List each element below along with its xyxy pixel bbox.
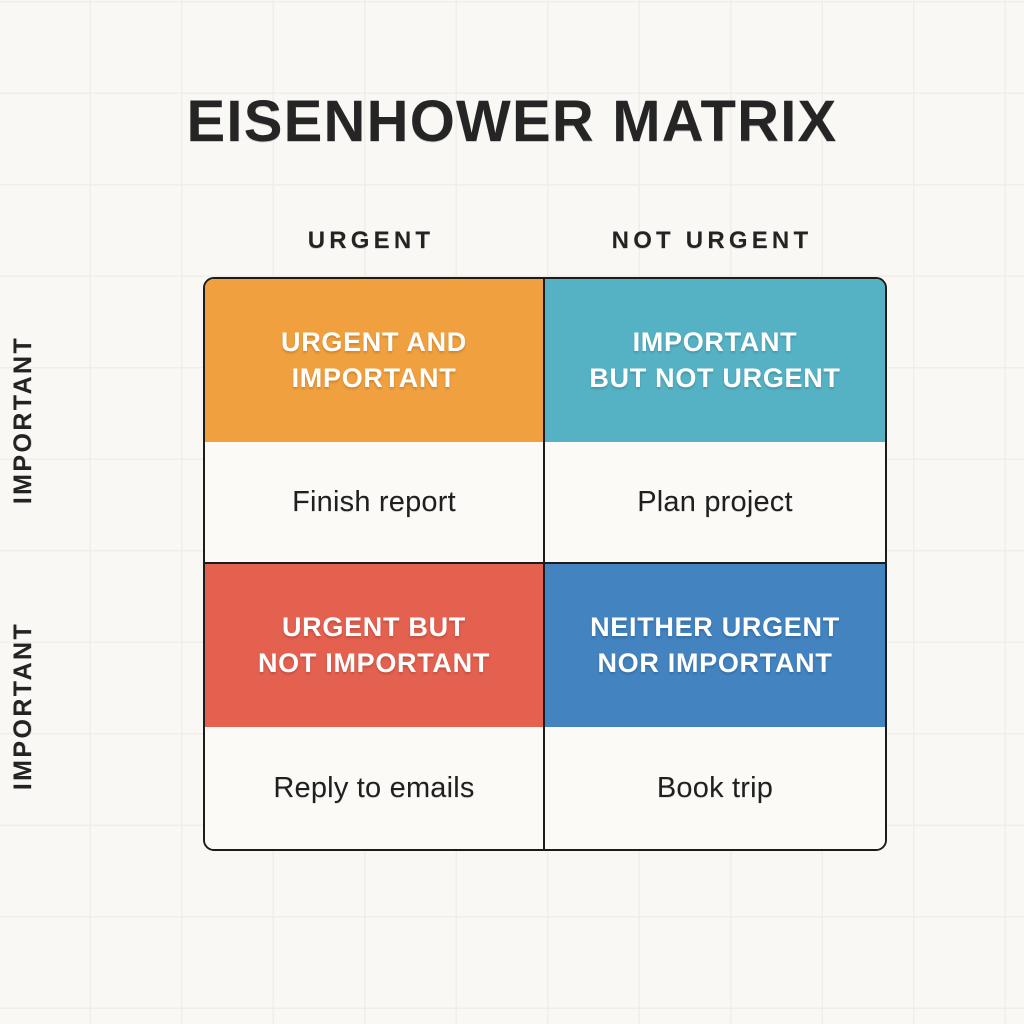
column-header-urgent: URGENT	[204, 225, 538, 257]
quadrant-heading-urgent-important: URGENT AND IMPORTANT	[281, 325, 467, 396]
quadrant-urgent-important[interactable]: URGENT AND IMPORTANT Finish report	[205, 279, 545, 564]
quadrant-heading-neither-urgent-nor-important: NEITHER URGENT NOR IMPORTANT	[590, 610, 840, 681]
task-label-book-trip: Book trip	[657, 772, 773, 805]
row-label-important: IMPORTANT	[1, 275, 45, 565]
quadrant-header-band-urgent-not-important: URGENT BUT NOT IMPORTANT	[205, 564, 543, 727]
task-label-plan-project: Plan project	[637, 486, 793, 519]
quadrant-important-not-urgent[interactable]: IMPORTANT BUT NOT URGENT Plan project	[545, 279, 885, 564]
quadrant-urgent-not-important[interactable]: URGENT BUT NOT IMPORTANT Reply to emails	[205, 564, 545, 849]
task-label-finish-report: Finish report	[292, 486, 456, 519]
page-title: EISENHOWER MATRIX	[0, 88, 1024, 155]
task-label-reply-to-emails: Reply to emails	[273, 772, 474, 805]
column-header-not-urgent: NOT URGENT	[538, 225, 886, 257]
quadrant-task-cell-urgent-important[interactable]: Finish report	[205, 442, 543, 562]
matrix-grid: URGENT AND IMPORTANT Finish report IMPOR…	[203, 277, 887, 851]
quadrant-heading-important-not-urgent: IMPORTANT BUT NOT URGENT	[589, 325, 840, 396]
quadrant-task-cell-neither-urgent-nor-important[interactable]: Book trip	[545, 727, 885, 849]
eisenhower-matrix-page: EISENHOWER MATRIX URGENT NOT URGENT IMPO…	[0, 0, 1024, 1024]
quadrant-heading-urgent-not-important: URGENT BUT NOT IMPORTANT	[258, 610, 490, 681]
quadrant-task-cell-important-not-urgent[interactable]: Plan project	[545, 442, 885, 562]
quadrant-header-band-important-not-urgent: IMPORTANT BUT NOT URGENT	[545, 279, 885, 442]
row-label-not-important: IMPORTANT	[1, 561, 45, 851]
quadrant-header-band-neither-urgent-nor-important: NEITHER URGENT NOR IMPORTANT	[545, 564, 885, 727]
quadrant-header-band-urgent-important: URGENT AND IMPORTANT	[205, 279, 543, 442]
quadrant-task-cell-urgent-not-important[interactable]: Reply to emails	[205, 727, 543, 849]
quadrant-neither-urgent-nor-important[interactable]: NEITHER URGENT NOR IMPORTANT Book trip	[545, 564, 885, 849]
